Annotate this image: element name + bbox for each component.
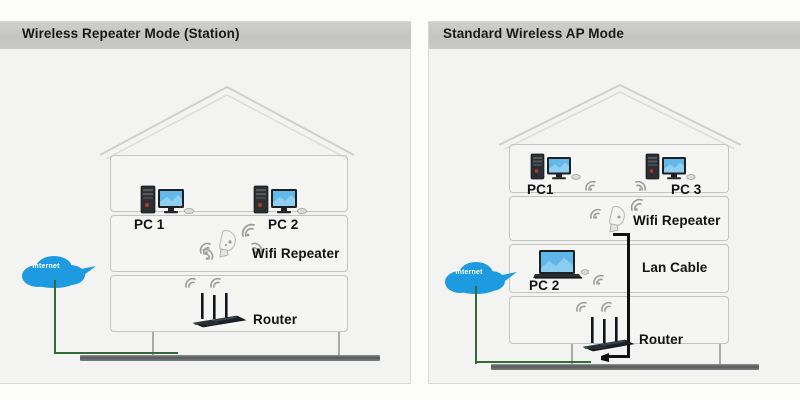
panel-body-left: Internet PC 1 <box>0 49 410 383</box>
foundation-bar-right <box>491 364 759 370</box>
wifi-arc-icon-repeater-left-2 <box>199 247 215 262</box>
laptop-icon-pc2-right <box>533 248 589 282</box>
device-label-pc3-right: PC 3 <box>671 182 701 197</box>
wifi-arc-icon-pc2-right <box>592 273 608 287</box>
wifi-arc-icon-router-left-2 <box>209 276 225 290</box>
panel-wireless-repeater-mode: Wireless Repeater Mode (Station) <box>0 21 411 384</box>
device-label-router-left: Router <box>253 312 297 327</box>
device-label-pc2-right: PC 2 <box>529 278 559 293</box>
wifi-arc-icon-router-left-1 <box>184 276 200 290</box>
internet-cloud-left <box>14 254 98 290</box>
device-label-wifi-repeater-left: Wifi Repeater <box>252 246 339 261</box>
desktop-pc-icon-pc1-right <box>529 152 581 184</box>
device-label-lan-cable-right: Lan Cable <box>642 260 707 275</box>
desktop-pc-icon-pc3-right <box>644 152 696 184</box>
wifi-arc-icon-repeater-left <box>240 221 258 239</box>
wifi-arc-icon-repeater-right <box>629 197 645 213</box>
house-roof-right <box>495 81 745 149</box>
internet-cable-right-vertical <box>475 286 477 364</box>
device-label-pc2-left: PC 2 <box>268 217 298 232</box>
lan-cable-right-top-stub <box>613 233 629 236</box>
house-roof-left <box>96 83 358 159</box>
wifi-arc-icon-router-right-2 <box>600 300 616 314</box>
wifi-arc-icon-pc3-right <box>632 179 648 193</box>
device-label-wifi-repeater-right: Wifi Repeater <box>633 213 720 228</box>
foundation-bar-left <box>80 355 380 361</box>
wifi-arc-icon-pc1-right-2 <box>584 179 600 193</box>
internet-cable-left-horizontal <box>54 352 178 354</box>
desktop-pc-icon-pc1-left <box>139 184 195 218</box>
panel-standard-wireless-ap-mode: Standard Wireless AP Mode <box>428 21 800 384</box>
panel-title-left: Wireless Repeater Mode (Station) <box>22 26 240 41</box>
internet-cable-left-vertical <box>54 280 56 354</box>
internet-cloud-right <box>437 260 519 296</box>
wifi-arc-icon-router-right-1 <box>575 300 591 314</box>
internet-cloud-label-right: Internet <box>449 269 489 276</box>
device-label-pc1-right: PC1 <box>527 182 554 197</box>
panel-body-right: Internet PC1 <box>429 49 800 383</box>
device-label-pc1-left: PC 1 <box>134 217 164 232</box>
diagram-canvas: Wireless Repeater Mode (Station) <box>0 0 800 400</box>
internet-cloud-label-left: Internet <box>26 263 66 270</box>
panel-title-right: Standard Wireless AP Mode <box>443 26 624 41</box>
desktop-pc-icon-pc2-left <box>252 184 308 218</box>
foundation-leg-left-2 <box>338 332 340 357</box>
internet-cable-right-horizontal <box>475 361 591 363</box>
foundation-leg-right-2 <box>719 344 721 366</box>
device-label-router-right: Router <box>639 332 683 347</box>
